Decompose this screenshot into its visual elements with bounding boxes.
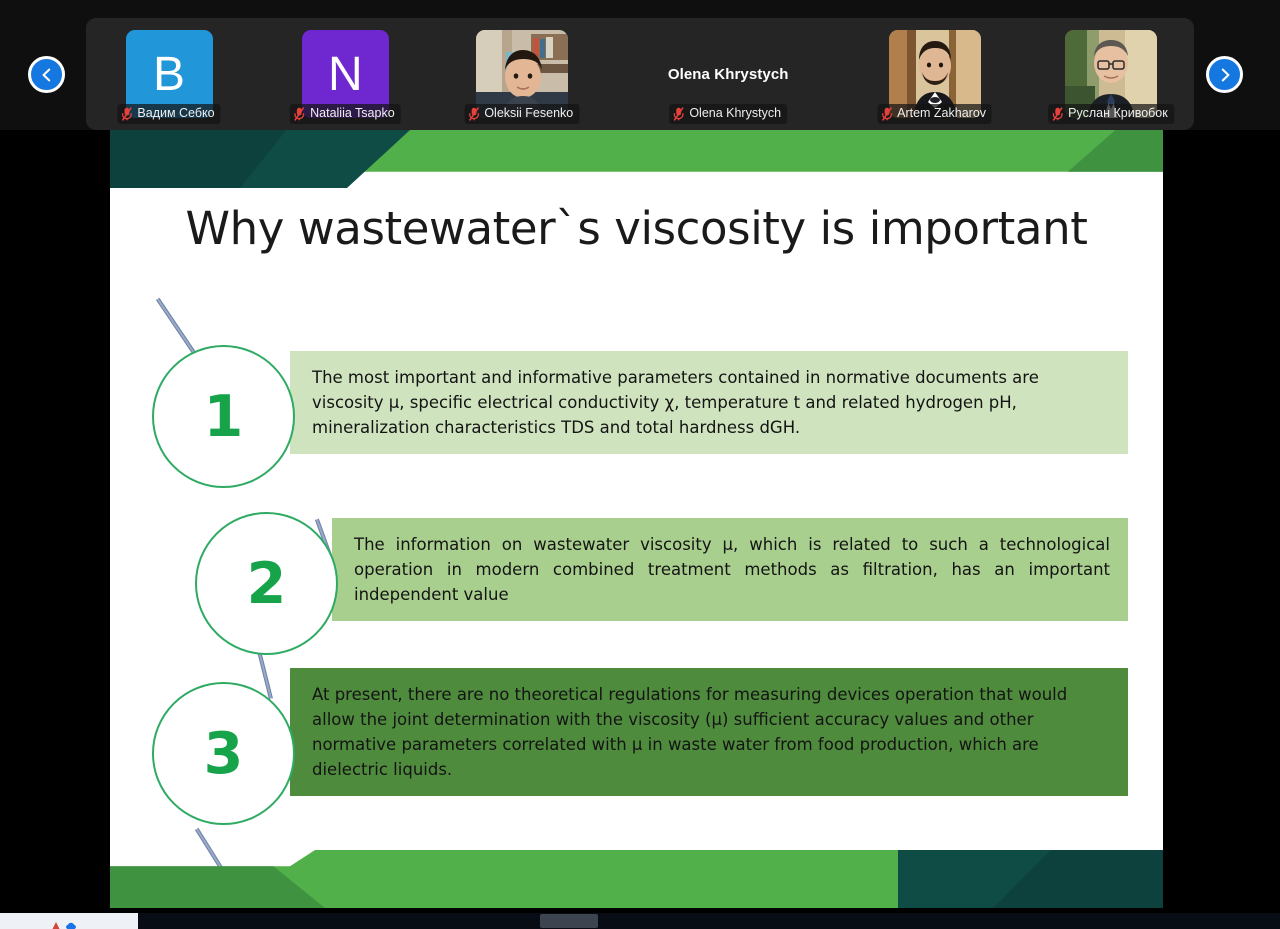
participant-name: Oleksii Fesenko xyxy=(484,105,573,122)
mic-muted-icon xyxy=(121,107,132,121)
mic-muted-icon xyxy=(673,107,684,121)
participant-tile-vadym-sebko[interactable]: B Вадим Себко xyxy=(94,18,244,130)
previous-participants-button[interactable] xyxy=(28,56,65,93)
participant-name: Вадим Себко xyxy=(137,105,214,122)
step-number-circle-1: 1 xyxy=(152,345,295,488)
zoom-meeting-window: B Вадим Себко N Nataliia Tsapko xyxy=(0,0,1280,929)
participant-name-bar: Вадим Себко xyxy=(117,104,220,124)
mic-muted-icon xyxy=(294,107,305,121)
step-text: The most important and informative param… xyxy=(312,368,1039,437)
participant-name: Olena Khrystych xyxy=(689,105,781,122)
participant-tile-olena-khrystych[interactable]: Olena Khrystych Olena Khrystych xyxy=(623,18,833,130)
mic-muted-icon xyxy=(1052,107,1063,121)
warning-icon[interactable] xyxy=(52,917,60,925)
participant-name-bar: Nataliia Tsapko xyxy=(290,104,401,124)
step-number-circle-3: 3 xyxy=(152,682,295,825)
step-number: 1 xyxy=(204,384,244,450)
chevron-right-icon xyxy=(1217,67,1233,83)
step-text-box-3: At present, there are no theoretical reg… xyxy=(290,668,1128,796)
windows-taskbar[interactable] xyxy=(0,913,1280,929)
taskbar-window-thumbnail[interactable] xyxy=(540,914,598,928)
step-number-circle-2: 2 xyxy=(195,512,338,655)
participant-name-bar: Artem Zakharov xyxy=(877,104,992,124)
chevron-left-icon xyxy=(39,67,55,83)
active-speaker-name: Olena Khrystych xyxy=(623,66,833,83)
step-number: 2 xyxy=(247,551,287,617)
participant-name-bar: Olena Khrystych xyxy=(669,104,787,124)
taskbar-tray[interactable] xyxy=(0,913,138,929)
cloud-sync-icon[interactable] xyxy=(66,917,74,925)
next-participants-button[interactable] xyxy=(1206,56,1243,93)
participant-name-bar: Руслан Кривобок xyxy=(1048,104,1174,124)
step-text: The information on wastewater viscosity … xyxy=(354,535,1110,604)
slide-steps-list: 1 The most important and informative par… xyxy=(110,130,1163,908)
step-text-box-2: The information on wastewater viscosity … xyxy=(332,518,1128,621)
step-text-box-1: The most important and informative param… xyxy=(290,351,1128,454)
participant-name: Artem Zakharov xyxy=(897,105,986,122)
participant-name: Руслан Кривобок xyxy=(1068,105,1168,122)
mic-muted-icon xyxy=(468,107,479,121)
mic-muted-icon xyxy=(881,107,892,121)
step-text: At present, there are no theoretical reg… xyxy=(312,685,1067,779)
participant-filmstrip[interactable]: B Вадим Себко N Nataliia Tsapko xyxy=(86,18,1194,130)
step-number: 3 xyxy=(204,721,244,787)
participant-name: Nataliia Tsapko xyxy=(310,105,395,122)
participant-name-bar: Oleksii Fesenko xyxy=(464,104,579,124)
participant-tile-oleksii-fesenko[interactable]: Oleksii Fesenko xyxy=(447,18,597,130)
participant-tile-nataliia-tsapko[interactable]: N Nataliia Tsapko xyxy=(270,18,420,130)
screen-share-stage: Why wastewater`s viscosity is important … xyxy=(0,130,1280,913)
slide-bottom-decoration xyxy=(110,850,1163,908)
participant-tile-artem-zakharov[interactable]: Artem Zakharov xyxy=(860,18,1010,130)
participant-tile-ruslan-kryvobok[interactable]: Руслан Кривобок xyxy=(1036,18,1186,130)
presentation-slide: Why wastewater`s viscosity is important … xyxy=(110,130,1163,908)
